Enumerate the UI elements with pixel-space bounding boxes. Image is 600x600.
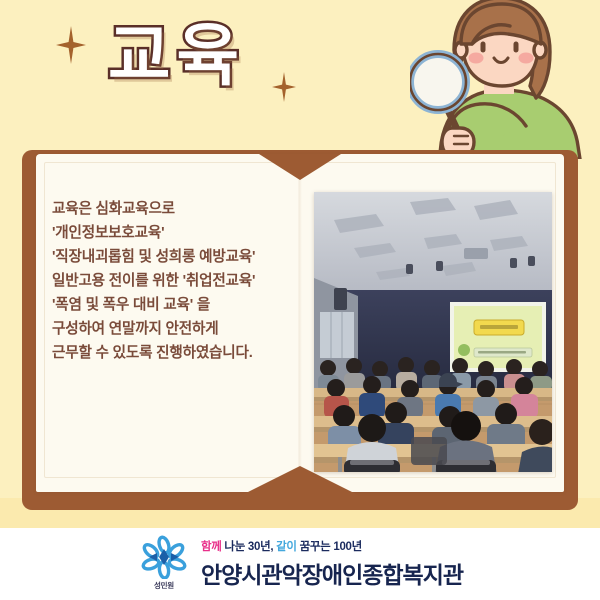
tagline-part-3: 같이 [276, 541, 297, 553]
card-news-root: 교육 [0, 0, 600, 600]
body-paragraph: 교육은 심화교육으로 '개인정보보호교육' '직장내괴롭힘 및 성희롱 예방교육… [52, 198, 302, 365]
flower-logo-icon [141, 535, 187, 579]
footer-branding: 성민원 함께 나눈 30년, 같이 꿈꾸는 100년 안양시관악장애인종합복지관 [0, 528, 600, 600]
footer-tagline: 함께 나눈 30년, 같이 꿈꾸는 100년 [201, 538, 463, 554]
woman-with-magnifying-glass-illustration [410, 0, 600, 159]
tagline-part-2: 나눈 30년, [224, 541, 273, 553]
footer-text-block: 함께 나눈 30년, 같이 꿈꾸는 100년 안양시관악장애인종합복지관 [201, 538, 463, 590]
tagline-part-4: 꿈꾸는 100년 [300, 541, 362, 553]
page-title: 교육 [108, 22, 245, 90]
lecture-hall-photo [314, 192, 552, 472]
organization-logo: 성민원 [137, 535, 191, 593]
tagline-part-1: 함께 [201, 541, 222, 553]
organization-name: 안양시관악장애인종합복지관 [201, 556, 463, 590]
logo-caption: 성민원 [154, 580, 174, 591]
